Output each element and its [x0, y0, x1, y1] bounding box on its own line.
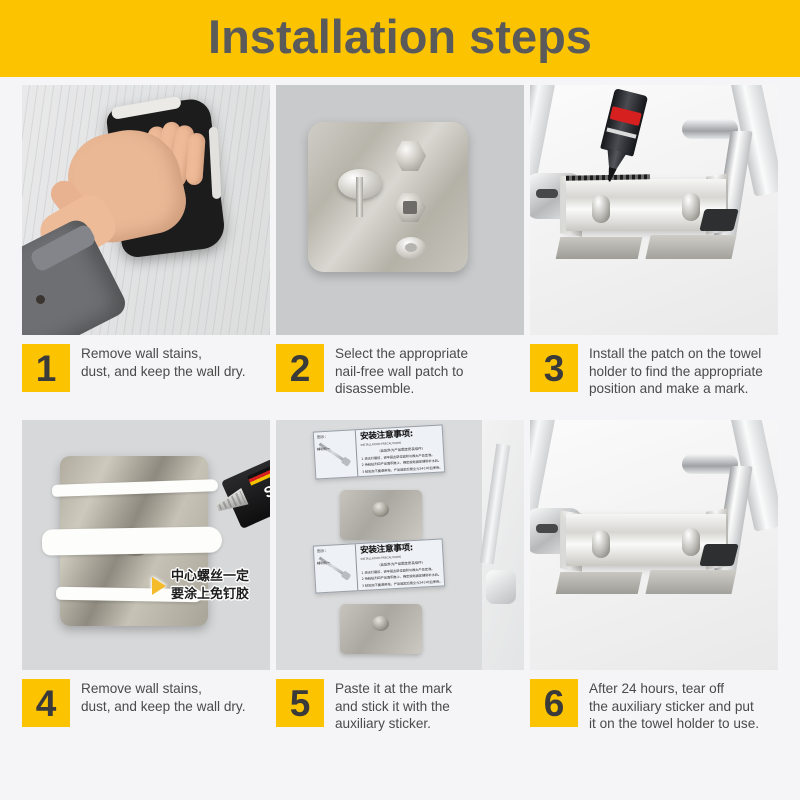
- sticker-arrow-note: 辅助贴→: [317, 560, 330, 566]
- step-number-badge: 6: [530, 679, 578, 727]
- center-screw: [372, 616, 389, 631]
- bracket-bolt-left: [592, 195, 610, 223]
- step-description: Paste it at the mark and stick it with t…: [335, 679, 452, 733]
- shadow-block: [699, 209, 738, 231]
- sleeve-button: [36, 295, 45, 304]
- bracket-bolt-right: [682, 528, 700, 556]
- glue-tube: SE: [203, 459, 270, 537]
- step-description: After 24 hours, tear off the auxiliary s…: [589, 679, 759, 733]
- header-banner: Installation steps: [0, 0, 800, 72]
- step-cell-2: 2 Select the appropriate nail-free wall …: [276, 85, 524, 398]
- sticker-text-panel: 安装注意事项: INSTALLATION PRECAUTIONS (此配件为产品…: [356, 425, 447, 476]
- step-photo-1: [22, 85, 270, 335]
- finger-icon: [185, 132, 206, 185]
- step-photo-4: SE 中心螺丝一定 要涂上免钉胶: [22, 420, 270, 670]
- page-title: Installation steps: [208, 13, 592, 60]
- shadow-block: [699, 544, 738, 566]
- step-description: Install the patch on the towel holder to…: [589, 344, 763, 398]
- wall-patch-left: [556, 237, 643, 259]
- callout-text: 中心螺丝一定 要涂上免钉胶: [171, 568, 249, 603]
- step-number-badge: 2: [276, 344, 324, 392]
- step-caption-3: 3 Install the patch on the towel holder …: [530, 344, 778, 398]
- step-caption-4: 4 Remove wall stains, dust, and keep the…: [22, 679, 270, 727]
- pen-stripe: [606, 127, 636, 138]
- wall-patch-right: [645, 570, 736, 594]
- tube-body: SE: [221, 459, 270, 529]
- step-photo-3: [530, 85, 778, 335]
- step-caption-5: 5 Paste it at the mark and stick it with…: [276, 679, 524, 733]
- step-photo-6: [530, 420, 778, 670]
- step-description: Remove wall stains, dust, and keep the w…: [81, 344, 245, 380]
- bracket-bolt-left: [592, 530, 610, 558]
- sticker-arrow-note: 辅助贴→: [317, 446, 330, 452]
- step-caption-6: 6 After 24 hours, tear off the auxiliary…: [530, 679, 778, 733]
- small-washer: [396, 237, 426, 259]
- step-number-badge: 5: [276, 679, 324, 727]
- step-photo-2: [276, 85, 524, 335]
- center-screw: [372, 502, 389, 517]
- header-underline: [0, 72, 800, 77]
- step-photo-5: 图示： 辅助贴→ 安装注意事项: INSTALLATION PRECAUTION…: [276, 420, 524, 670]
- sticker-left-caption: 图示：: [317, 433, 352, 440]
- center-screw: [356, 177, 363, 217]
- steps-grid: 1 Remove wall stains, dust, and keep the…: [22, 85, 778, 733]
- pen-red-label: [610, 106, 642, 126]
- sticker-diagram-panel: 图示： 辅助贴→: [314, 544, 359, 592]
- wall-patch-left: [556, 572, 643, 594]
- step-caption-1: 1 Remove wall stains, dust, and keep the…: [22, 344, 270, 392]
- tube-brand-text: SE: [261, 479, 270, 502]
- step-cell-5: 图示： 辅助贴→ 安装注意事项: INSTALLATION PRECAUTION…: [276, 420, 524, 733]
- wall-patch-right: [645, 235, 736, 259]
- instruction-label-sticker: 图示： 辅助贴→ 安装注意事项: INSTALLATION PRECAUTION…: [313, 538, 445, 593]
- step-cell-4: SE 中心螺丝一定 要涂上免钉胶 4 Remove wall stains, d…: [22, 420, 270, 733]
- glue-bead: [42, 526, 222, 555]
- sticker-diagram-panel: 图示： 辅助贴→: [314, 430, 359, 478]
- step-number-badge: 1: [22, 344, 70, 392]
- step-cell-3: 3 Install the patch on the towel holder …: [530, 85, 778, 398]
- step-cell-6: 6 After 24 hours, tear off the auxiliary…: [530, 420, 778, 733]
- step-number-badge: 4: [22, 679, 70, 727]
- yellow-triangle-icon: [152, 577, 166, 595]
- sticker-text-panel: 安装注意事项: INSTALLATION PRECAUTIONS (此配件为产品…: [356, 539, 447, 590]
- glue-callout: 中心螺丝一定 要涂上免钉胶: [152, 568, 249, 603]
- bracket-bolt-right: [682, 193, 700, 221]
- installation-steps-infographic: Installation steps 1 Remove wal: [0, 0, 800, 800]
- background-hardware: [482, 420, 524, 670]
- step-number-badge: 3: [530, 344, 578, 392]
- steel-wall-patch: [308, 122, 468, 272]
- step-description: Select the appropriate nail-free wall pa…: [335, 344, 468, 398]
- step-description: Remove wall stains, dust, and keep the w…: [81, 679, 245, 715]
- german-flag-icon: [247, 466, 270, 486]
- step-caption-2: 2 Select the appropriate nail-free wall …: [276, 344, 524, 398]
- sticker-left-caption: 图示：: [317, 547, 352, 554]
- instruction-label-sticker: 图示： 辅助贴→ 安装注意事项: INSTALLATION PRECAUTION…: [313, 424, 445, 479]
- step-cell-1: 1 Remove wall stains, dust, and keep the…: [22, 85, 270, 398]
